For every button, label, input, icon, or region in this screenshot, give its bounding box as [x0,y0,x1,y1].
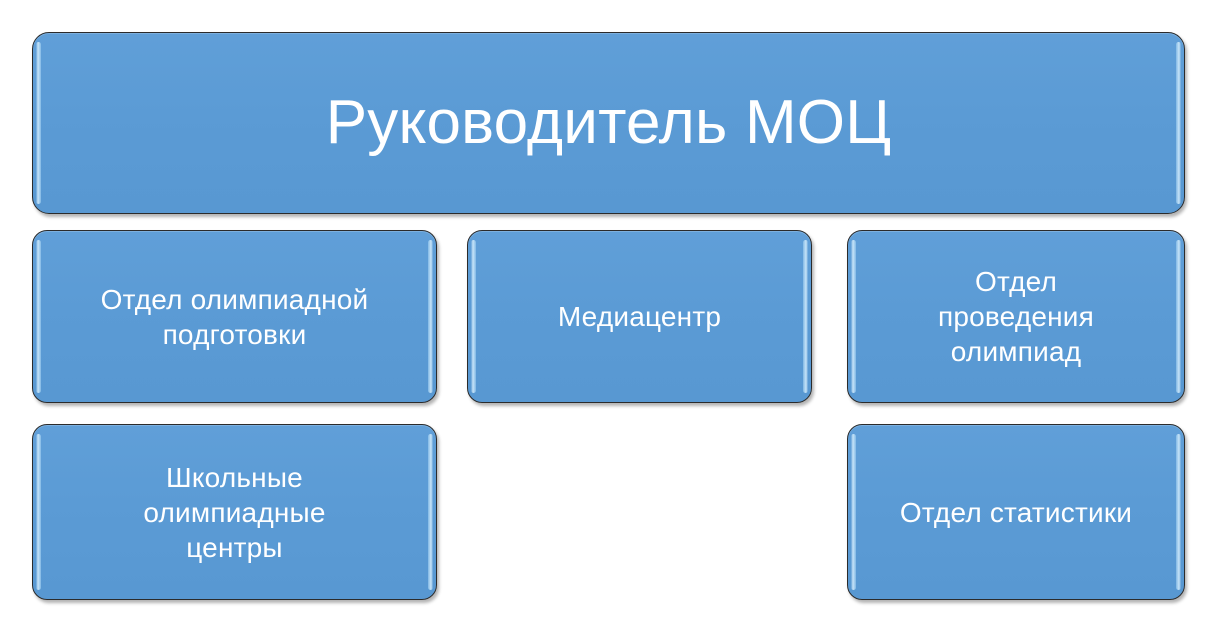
node-media-center-label: Медиацентр [548,299,731,334]
node-olympiad-preparation-department[interactable]: Отдел олимпиадной подготовки [32,230,437,403]
node-olympiad-conducting-department[interactable]: Отдел проведения олимпиад [847,230,1185,403]
node-school-olympiad-centers[interactable]: Школьные олимпиадные центры [32,424,437,600]
node-olympiad-preparation-department-label: Отдел олимпиадной подготовки [91,282,379,352]
node-olympiad-conducting-department-label: Отдел проведения олимпиад [928,264,1104,369]
org-chart: Руководитель МОЦ Отдел олимпиадной подго… [0,0,1215,640]
node-statistics-department[interactable]: Отдел статистики [847,424,1185,600]
node-school-olympiad-centers-label: Школьные олимпиадные центры [133,460,335,565]
node-statistics-department-label: Отдел статистики [890,495,1142,530]
node-media-center[interactable]: Медиацентр [467,230,812,403]
node-head-of-moc[interactable]: Руководитель МОЦ [32,32,1185,214]
node-head-of-moc-label: Руководитель МОЦ [316,90,902,155]
